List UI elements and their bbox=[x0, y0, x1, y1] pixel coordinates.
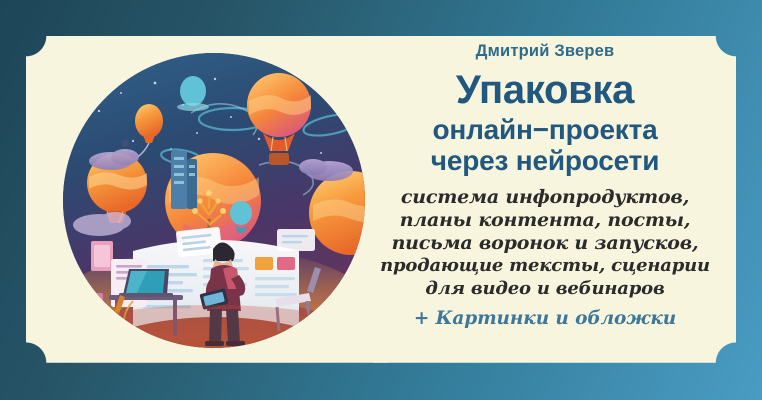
promo-banner: Дмитрий Зверев Упаковка онлайн−проекта ч… bbox=[0, 0, 762, 400]
author-name: Дмитрий Зверев bbox=[372, 42, 718, 62]
illustration-artwork bbox=[63, 53, 365, 348]
text-column: Дмитрий Зверев Упаковка онлайн−проекта ч… bbox=[372, 40, 718, 358]
illustration-circle bbox=[63, 53, 365, 348]
subtitle-line-3: письма воронок и запусков, bbox=[372, 232, 718, 255]
page-title-line-2: онлайн−проекта bbox=[372, 114, 718, 145]
subtitle-line-2: планы контента, посты, bbox=[372, 209, 718, 232]
subtitle-line-5: для видео и вебинаров bbox=[372, 278, 718, 300]
subtitle-line-1: система инфопродуктов, bbox=[372, 186, 718, 209]
subtitle-line-4: продающие тексты, сценарии bbox=[372, 255, 718, 277]
page-title-line-3: через нейросети bbox=[372, 145, 718, 176]
bonus-line: + Картинки и обложки bbox=[372, 308, 718, 329]
page-title-line-1: Упаковка bbox=[372, 70, 718, 111]
